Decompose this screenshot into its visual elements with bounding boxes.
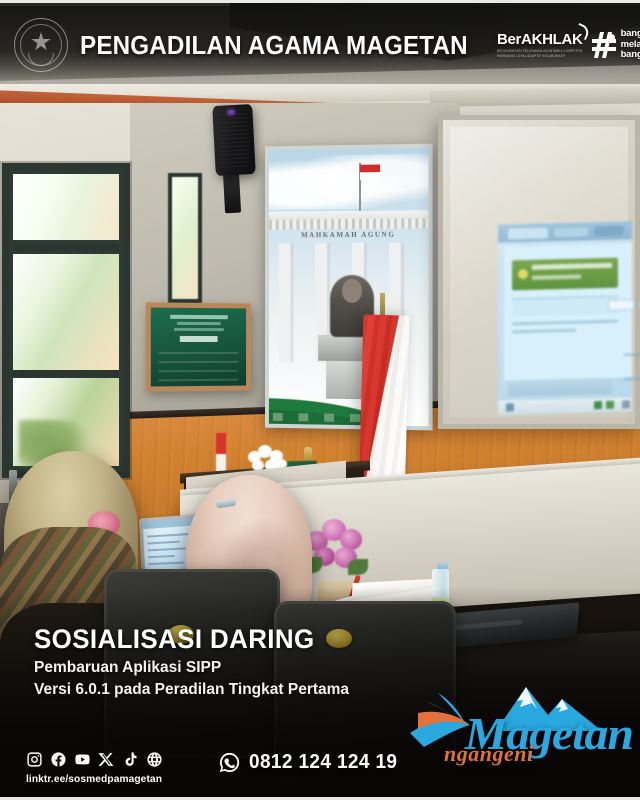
notice-title-line <box>170 315 227 319</box>
slide-row <box>512 320 618 326</box>
banner-clouds <box>269 154 429 210</box>
slide-row <box>624 377 640 381</box>
slide-page-body <box>504 243 632 380</box>
notice-rule <box>159 361 239 363</box>
projector-screen <box>438 115 640 429</box>
linktree-url[interactable]: linktr.ee/sosmedpamagetan <box>26 773 199 785</box>
taskbar-icon <box>594 401 602 409</box>
banner-building-title: MAHKAMAH AGUNG <box>269 230 429 239</box>
window-mullion <box>13 244 119 251</box>
subtitle-line-1: Pembaruan Aplikasi SIPP <box>34 658 464 679</box>
headline: SOSIALISASI DARING <box>34 625 447 653</box>
tiktok-icon[interactable] <box>122 751 139 768</box>
laptop-screen-row <box>147 533 190 538</box>
window-frame <box>2 163 130 478</box>
slide-alert-icon <box>518 269 528 279</box>
magetan-tourism-logo: Magetan ngangeni <box>408 679 634 775</box>
pengadilan-agama-seal-icon <box>14 18 68 72</box>
slide-address-bar <box>594 225 624 236</box>
facebook-icon[interactable] <box>50 751 67 768</box>
slide-browser-tab <box>508 227 548 239</box>
whatsapp-icon <box>218 751 241 774</box>
magetan-tagline: ngangeni <box>444 741 534 767</box>
whatsapp-number: 0812 124 124 19 <box>249 751 397 774</box>
notice-rule <box>159 370 239 372</box>
taskbar-icon <box>622 400 630 408</box>
notice-highlight <box>180 336 218 342</box>
instagram-icon[interactable] <box>26 751 43 768</box>
youtube-icon[interactable] <box>74 751 91 768</box>
website-globe-icon[interactable] <box>146 751 163 768</box>
berakhlak-logo: BerAKHLAK BERORIENTASI PELAYANAN AKUNTAB… <box>497 29 640 61</box>
x-twitter-icon[interactable] <box>98 751 115 768</box>
notice-rule <box>159 352 239 354</box>
bangga-melayani-bangsa-logo: bangga melayani bangsa <box>592 29 640 61</box>
poster-header: PENGADILAN AGAMA MAGETAN BerAKHLAK BEROR… <box>0 6 640 84</box>
notice-sub-line <box>177 322 221 325</box>
social-media-block: linktr.ee/sosmedpamagetan <box>26 749 204 785</box>
social-media-poster: MAHKAMAH AGUNG <box>0 0 640 800</box>
laptop-screen-row <box>147 541 180 545</box>
projector-screen-surface <box>450 127 628 417</box>
social-icon-row <box>26 749 204 769</box>
hashtag-icon <box>592 32 616 58</box>
laptop-screen-row <box>148 547 186 551</box>
berakhlak-wordmark: BerAKHLAK BERORIENTASI PELAYANAN AKUNTAB… <box>497 32 583 58</box>
caption-block: SOSIALISASI DARING Pembaruan Aplikasi SI… <box>34 625 464 701</box>
leaf <box>348 559 368 575</box>
taskbar-icon <box>606 401 614 409</box>
window-pane-top <box>13 174 119 240</box>
slide-alert-text <box>532 263 612 270</box>
taskbar-icon <box>506 403 514 411</box>
slide-taskbar <box>498 397 632 415</box>
window-mullion <box>13 370 119 377</box>
speaker-grill <box>218 112 251 167</box>
berakhlak-word: BerAKHLAK <box>497 32 583 47</box>
slide-row <box>512 329 576 334</box>
bmb-slogan: bangga melayani bangsa <box>621 29 640 61</box>
slide-toolbar <box>512 296 618 317</box>
page-title: PENGADILAN AGAMA MAGETAN <box>80 30 468 61</box>
notice-sub-line-2 <box>174 328 224 331</box>
subtitle-line-2: Versi 6.0.1 pada Peradilan Tingkat Perta… <box>34 680 464 701</box>
slide-dock <box>508 378 612 397</box>
slide-button-primary <box>608 299 634 311</box>
window-pane-middle <box>13 254 119 370</box>
notice-rule <box>159 379 239 382</box>
banner-figure-face <box>342 279 362 303</box>
slide-row <box>624 353 640 357</box>
berakhlak-tagline: BERORIENTASI PELAYANAN AKUNTABEL KOMPETE… <box>497 49 583 58</box>
speaker-bracket <box>223 171 241 214</box>
laptop-screen-row <box>148 555 175 558</box>
slide-browser-tab-2 <box>554 227 588 237</box>
wall-speaker <box>212 104 256 176</box>
speaker-led <box>227 110 234 114</box>
banner-indonesia-flag <box>360 165 380 180</box>
slide-alert-subtext <box>532 275 581 280</box>
banner-dentil <box>269 218 433 229</box>
slide-browser-bar <box>498 221 632 243</box>
slide-alert-banner <box>512 258 618 291</box>
projected-sipp-slide <box>498 221 632 415</box>
window-secondary <box>168 173 202 303</box>
bmb-line-3: bangsa <box>621 50 640 61</box>
whatsapp-contact[interactable]: 0812 124 124 19 <box>218 749 405 774</box>
green-notice-board <box>146 302 251 391</box>
laptop-screen-row <box>148 562 183 565</box>
